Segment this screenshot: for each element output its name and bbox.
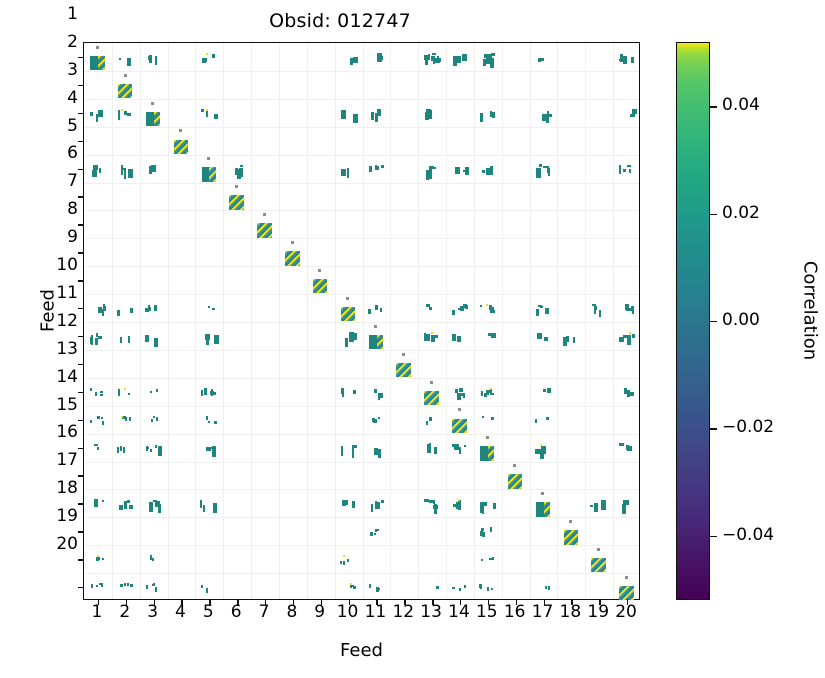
- matrix-subcell: [353, 114, 358, 123]
- x-tick-label: 14: [445, 604, 473, 621]
- y-tick-label: 14: [40, 369, 78, 386]
- matrix-subcell: [429, 500, 433, 503]
- matrix-subcell: [96, 46, 99, 49]
- matrix-cell: [613, 573, 641, 601]
- y-tick: [78, 85, 84, 86]
- matrix-subcell: [99, 168, 101, 173]
- matrix-subcell: [490, 393, 494, 395]
- y-axis-label: Feed: [38, 251, 59, 371]
- matrix-subcell: [627, 335, 631, 345]
- matrix-subcell: [98, 114, 103, 117]
- matrix-subcell: [90, 112, 93, 116]
- y-tick: [78, 280, 84, 281]
- matrix-subcell: [464, 445, 466, 447]
- diagonal-self-correlation: [424, 391, 438, 405]
- matrix-subcell: [347, 559, 349, 562]
- matrix-subcell: [263, 213, 266, 216]
- matrix-subcell: [427, 170, 432, 179]
- matrix-cell: [363, 294, 391, 322]
- colorbar-tick-label: −0.02: [722, 419, 774, 436]
- matrix-cell: [112, 155, 140, 183]
- x-tick-label: 11: [361, 604, 389, 621]
- y-tick-label: 16: [40, 424, 78, 441]
- matrix-subcell: [381, 500, 384, 503]
- matrix-cell: [335, 573, 363, 601]
- matrix-subcell: [434, 447, 437, 454]
- y-tick-label: 19: [40, 508, 78, 525]
- matrix-subcell: [212, 308, 215, 310]
- matrix-subcell: [536, 309, 539, 316]
- matrix-cell: [195, 434, 223, 462]
- x-tick-label: 4: [166, 604, 194, 621]
- matrix-subcell: [488, 333, 493, 336]
- matrix-cell: [84, 573, 112, 601]
- matrix-cell: [446, 294, 474, 322]
- matrix-cell: [195, 99, 223, 127]
- matrix-cell: [474, 322, 502, 350]
- matrix-cells: [84, 43, 639, 599]
- x-tick-label: 10: [334, 604, 362, 621]
- matrix-subcell: [458, 408, 461, 411]
- matrix-subcell: [429, 417, 432, 421]
- correlation-matrix-axes[interactable]: [83, 42, 640, 600]
- matrix-subcell: [453, 57, 456, 61]
- matrix-subcell: [623, 169, 626, 172]
- matrix-cell: [84, 294, 112, 322]
- x-tick-label: 15: [473, 604, 501, 621]
- matrix-subcell: [375, 419, 377, 423]
- matrix-subcell: [343, 555, 345, 557]
- matrix-subcell: [145, 335, 149, 342]
- y-tick: [78, 224, 84, 225]
- matrix-cell: [474, 489, 502, 517]
- matrix-subcell: [340, 561, 342, 564]
- matrix-subcell: [349, 332, 354, 342]
- diagonal-self-correlation: [174, 140, 188, 154]
- matrix-subcell: [482, 416, 484, 418]
- matrix-cell: [418, 573, 446, 601]
- matrix-cell: [474, 517, 502, 545]
- matrix-subcell: [458, 499, 460, 501]
- matrix-subcell: [130, 170, 133, 178]
- matrix-cell: [195, 489, 223, 517]
- x-tick-label: 18: [556, 604, 584, 621]
- matrix-subcell: [599, 310, 601, 317]
- matrix-subcell: [240, 165, 243, 167]
- diagonal-self-correlation: [313, 279, 327, 293]
- matrix-subcell: [424, 333, 426, 341]
- matrix-subcell: [480, 502, 483, 512]
- matrix-cell: [530, 573, 558, 601]
- matrix-subcell: [459, 447, 461, 454]
- matrix-subcell: [380, 393, 383, 398]
- matrix-subcell: [491, 310, 495, 313]
- y-tick: [78, 364, 84, 365]
- matrix-subcell: [352, 501, 355, 508]
- matrix-subcell: [492, 112, 495, 118]
- y-tick-label: 17: [40, 452, 78, 469]
- matrix-subcell: [203, 505, 205, 512]
- matrix-subcell: [457, 56, 461, 63]
- matrix-subcell: [353, 390, 356, 394]
- matrix-cell: [112, 406, 140, 434]
- matrix-subcell: [381, 56, 383, 60]
- matrix-subcell: [202, 58, 206, 63]
- matrix-subcell: [482, 532, 485, 537]
- matrix-subcell: [619, 165, 621, 174]
- matrix-subcell: [202, 167, 210, 181]
- y-tick: [78, 503, 84, 504]
- matrix-subcell: [483, 502, 487, 506]
- matrix-subcell: [483, 59, 486, 66]
- matrix-cell: [335, 545, 363, 573]
- y-tick-label: 18: [40, 480, 78, 497]
- matrix-cell: [585, 545, 613, 573]
- matrix-subcell: [541, 492, 544, 495]
- matrix-subcell: [452, 587, 455, 589]
- matrix-cell: [279, 238, 307, 266]
- matrix-subcell: [513, 464, 516, 467]
- matrix-subcell: [486, 58, 489, 64]
- matrix-cell: [363, 573, 391, 601]
- matrix-subcell: [433, 500, 435, 504]
- colorbar-tick-label: 0.04: [722, 97, 760, 114]
- y-tick: [78, 308, 84, 309]
- matrix-cell: [112, 322, 140, 350]
- x-tick-label: 19: [584, 604, 612, 621]
- matrix-subcell: [350, 583, 352, 585]
- matrix-cell: [140, 489, 168, 517]
- matrix-subcell: [128, 393, 130, 395]
- matrix-subcell: [431, 332, 433, 334]
- matrix-cell: [363, 322, 391, 350]
- matrix-cell: [613, 489, 641, 517]
- matrix-subcell: [431, 335, 435, 342]
- y-tick-label: 2: [40, 34, 78, 51]
- matrix-subcell: [457, 336, 461, 342]
- matrix-subcell: [205, 335, 210, 338]
- matrix-cell: [84, 545, 112, 573]
- diagonal-self-correlation: [229, 195, 243, 209]
- matrix-subcell: [102, 421, 104, 425]
- y-tick-label: 7: [40, 173, 78, 190]
- matrix-subcell: [214, 114, 218, 119]
- matrix-subcell: [543, 389, 546, 392]
- matrix-subcell: [119, 505, 123, 510]
- matrix-subcell: [353, 586, 356, 589]
- matrix-cell: [474, 406, 502, 434]
- matrix-subcell: [463, 393, 465, 398]
- matrix-subcell: [90, 420, 92, 423]
- matrix-cell: [418, 434, 446, 462]
- matrix-cell: [307, 266, 335, 294]
- y-tick-label: 6: [40, 145, 78, 162]
- matrix-subcell: [213, 503, 217, 513]
- matrix-subcell: [545, 308, 549, 314]
- matrix-subcell: [625, 576, 628, 579]
- matrix-cell: [335, 489, 363, 517]
- matrix-subcell: [535, 419, 537, 423]
- matrix-subcell: [102, 558, 104, 560]
- matrix-subcell: [341, 446, 343, 456]
- matrix-subcell: [90, 56, 98, 70]
- matrix-cell: [195, 573, 223, 601]
- matrix-subcell: [426, 421, 428, 425]
- y-tick: [78, 587, 84, 588]
- matrix-cell: [530, 434, 558, 462]
- colorbar-tick: [710, 321, 717, 322]
- matrix-cell: [530, 43, 558, 71]
- matrix-subcell: [631, 306, 634, 309]
- matrix-cell: [585, 489, 613, 517]
- matrix-cell: [363, 43, 391, 71]
- matrix-subcell: [96, 114, 98, 122]
- matrix-cell: [84, 322, 112, 350]
- matrix-cell: [446, 434, 474, 462]
- matrix-cell: [140, 378, 168, 406]
- matrix-subcell: [124, 501, 127, 509]
- matrix-subcell: [377, 529, 379, 531]
- matrix-subcell: [214, 421, 217, 424]
- matrix-subcell: [95, 338, 98, 345]
- matrix-subcell: [369, 335, 377, 349]
- matrix-subcell: [623, 500, 627, 504]
- matrix-subcell: [463, 304, 467, 308]
- matrix-subcell: [429, 166, 434, 169]
- matrix-subcell: [121, 109, 123, 111]
- matrix-subcell: [149, 55, 152, 63]
- matrix-subcell: [154, 305, 157, 311]
- matrix-cell: [613, 322, 641, 350]
- matrix-subcell: [486, 304, 488, 306]
- y-tick-label: 8: [40, 201, 78, 218]
- matrix-subcell: [98, 336, 102, 339]
- matrix-subcell: [121, 416, 123, 418]
- colorbar[interactable]: [676, 42, 710, 600]
- matrix-subcell: [130, 584, 133, 587]
- matrix-subcell: [368, 309, 371, 314]
- matrix-subcell: [540, 444, 542, 446]
- matrix-subcell: [101, 417, 103, 419]
- matrix-subcell: [343, 561, 345, 565]
- matrix-cell: [418, 378, 446, 406]
- matrix-cell: [613, 99, 641, 127]
- matrix-subcell: [481, 559, 483, 561]
- matrix-subcell: [426, 304, 430, 307]
- matrix-subcell: [632, 334, 635, 338]
- matrix-subcell: [341, 110, 346, 119]
- matrix-subcell: [539, 164, 542, 167]
- matrix-subcell: [465, 167, 469, 175]
- matrix-subcell: [624, 388, 627, 394]
- matrix-subcell: [546, 417, 549, 420]
- y-tick-label: 20: [40, 536, 78, 553]
- matrix-subcell: [375, 166, 379, 170]
- matrix-subcell: [151, 102, 154, 105]
- matrix-subcell: [145, 308, 149, 312]
- matrix-subcell: [206, 53, 208, 55]
- matrix-cell: [335, 155, 363, 183]
- matrix-cell: [530, 322, 558, 350]
- matrix-subcell: [90, 337, 93, 344]
- matrix-subcell: [158, 504, 161, 513]
- matrix-subcell: [102, 500, 104, 502]
- matrix-cell: [140, 155, 168, 183]
- matrix-subcell: [235, 185, 238, 188]
- matrix-cell: [140, 573, 168, 601]
- matrix-subcell: [374, 389, 377, 393]
- diagonal-self-correlation: [564, 530, 578, 544]
- matrix-cell: [84, 489, 112, 517]
- matrix-subcell: [375, 305, 378, 310]
- matrix-subcell: [90, 388, 92, 391]
- matrix-subcell: [369, 584, 371, 588]
- matrix-subcell: [452, 334, 456, 341]
- matrix-subcell: [487, 587, 489, 591]
- matrix-subcell: [120, 337, 122, 343]
- matrix-subcell: [371, 504, 373, 512]
- matrix-subcell: [207, 157, 210, 160]
- matrix-cell: [418, 322, 446, 350]
- x-tick-label: 1: [83, 604, 111, 621]
- matrix-subcell: [594, 503, 598, 512]
- matrix-cell: [446, 573, 474, 601]
- matrix-cell: [418, 489, 446, 517]
- matrix-cell: [557, 322, 585, 350]
- matrix-cell: [84, 434, 112, 462]
- matrix-subcell: [123, 447, 125, 453]
- matrix-subcell: [378, 417, 380, 419]
- matrix-subcell: [149, 166, 152, 174]
- matrix-subcell: [540, 449, 544, 459]
- matrix-subcell: [491, 417, 494, 420]
- matrix-subcell: [208, 421, 210, 423]
- matrix-subcell: [374, 448, 378, 455]
- matrix-subcell: [347, 168, 349, 178]
- matrix-cell: [84, 406, 112, 434]
- matrix-subcell: [117, 447, 119, 453]
- matrix-subcell: [454, 444, 459, 450]
- matrix-cell: [140, 294, 168, 322]
- matrix-subcell: [127, 500, 130, 503]
- matrix-subcell: [622, 504, 626, 514]
- matrix-subcell: [98, 307, 102, 310]
- matrix-subcell: [158, 446, 162, 456]
- matrix-subcell: [378, 588, 380, 590]
- x-tick-label: 2: [111, 604, 139, 621]
- matrix-subcell: [92, 170, 97, 177]
- matrix-cell: [613, 378, 641, 406]
- matrix-subcell: [129, 505, 133, 509]
- matrix-subcell: [94, 444, 98, 446]
- diagonal-self-correlation: [452, 419, 466, 433]
- matrix-cell: [84, 43, 112, 71]
- matrix-cell: [335, 43, 363, 71]
- matrix-cell: [84, 378, 112, 406]
- matrix-subcell: [124, 416, 126, 418]
- matrix-cell: [112, 71, 140, 99]
- matrix-subcell: [214, 335, 219, 344]
- matrix-cell: [613, 434, 641, 462]
- matrix-subcell: [156, 417, 158, 421]
- colorbar-tick: [710, 536, 717, 537]
- matrix-subcell: [480, 113, 483, 122]
- matrix-cell: [446, 155, 474, 183]
- matrix-cell: [474, 378, 502, 406]
- matrix-subcell: [291, 241, 294, 244]
- matrix-subcell: [124, 74, 127, 77]
- matrix-subcell: [590, 505, 593, 507]
- x-tick-label: 9: [306, 604, 334, 621]
- matrix-cell: [223, 183, 251, 211]
- y-tick: [78, 531, 84, 532]
- matrix-cell: [112, 294, 140, 322]
- matrix-subcell: [97, 416, 100, 419]
- matrix-subcell: [345, 501, 347, 503]
- matrix-subcell: [100, 394, 103, 396]
- diagonal-self-correlation: [396, 363, 410, 377]
- matrix-cell: [84, 155, 112, 183]
- matrix-subcell: [455, 389, 458, 393]
- matrix-cell: [363, 378, 391, 406]
- matrix-subcell: [98, 310, 102, 313]
- y-tick: [78, 475, 84, 476]
- matrix-cell: [140, 434, 168, 462]
- matrix-cell: [474, 434, 502, 462]
- y-tick-label: 1: [40, 6, 78, 23]
- matrix-subcell: [377, 502, 380, 506]
- matrix-subcell: [484, 393, 487, 397]
- matrix-subcell: [124, 170, 126, 179]
- matrix-cell: [363, 434, 391, 462]
- matrix-cell: [530, 489, 558, 517]
- matrix-subcell: [206, 416, 208, 420]
- matrix-cell: [195, 406, 223, 434]
- matrix-subcell: [426, 334, 430, 341]
- matrix-subcell: [212, 447, 216, 457]
- matrix-subcell: [374, 533, 376, 535]
- matrix-subcell: [201, 109, 204, 112]
- matrix-subcell: [206, 109, 208, 111]
- matrix-subcell: [318, 269, 321, 272]
- matrix-cell: [223, 155, 251, 183]
- matrix-subcell: [341, 169, 346, 176]
- y-tick-label: 5: [40, 118, 78, 135]
- y-tick: [78, 113, 84, 114]
- matrix-subcell: [437, 56, 439, 60]
- y-tick: [78, 252, 84, 253]
- matrix-subcell: [480, 305, 482, 307]
- matrix-subcell: [124, 583, 126, 586]
- matrix-cell: [446, 489, 474, 517]
- matrix-cell: [112, 378, 140, 406]
- matrix-subcell: [490, 527, 492, 532]
- matrix-subcell: [601, 500, 606, 510]
- matrix-subcell: [459, 388, 463, 392]
- matrix-subcell: [630, 114, 635, 117]
- matrix-subcell: [464, 585, 466, 588]
- matrix-subcell: [374, 325, 377, 328]
- matrix-cell: [140, 322, 168, 350]
- matrix-cell: [112, 489, 140, 517]
- diagonal-self-correlation: [118, 84, 132, 98]
- matrix-subcell: [208, 306, 210, 308]
- matrix-subcell: [378, 449, 381, 458]
- matrix-cell: [613, 294, 641, 322]
- matrix-cell: [363, 489, 391, 517]
- matrix-subcell: [436, 586, 438, 589]
- y-tick-label: 9: [40, 229, 78, 246]
